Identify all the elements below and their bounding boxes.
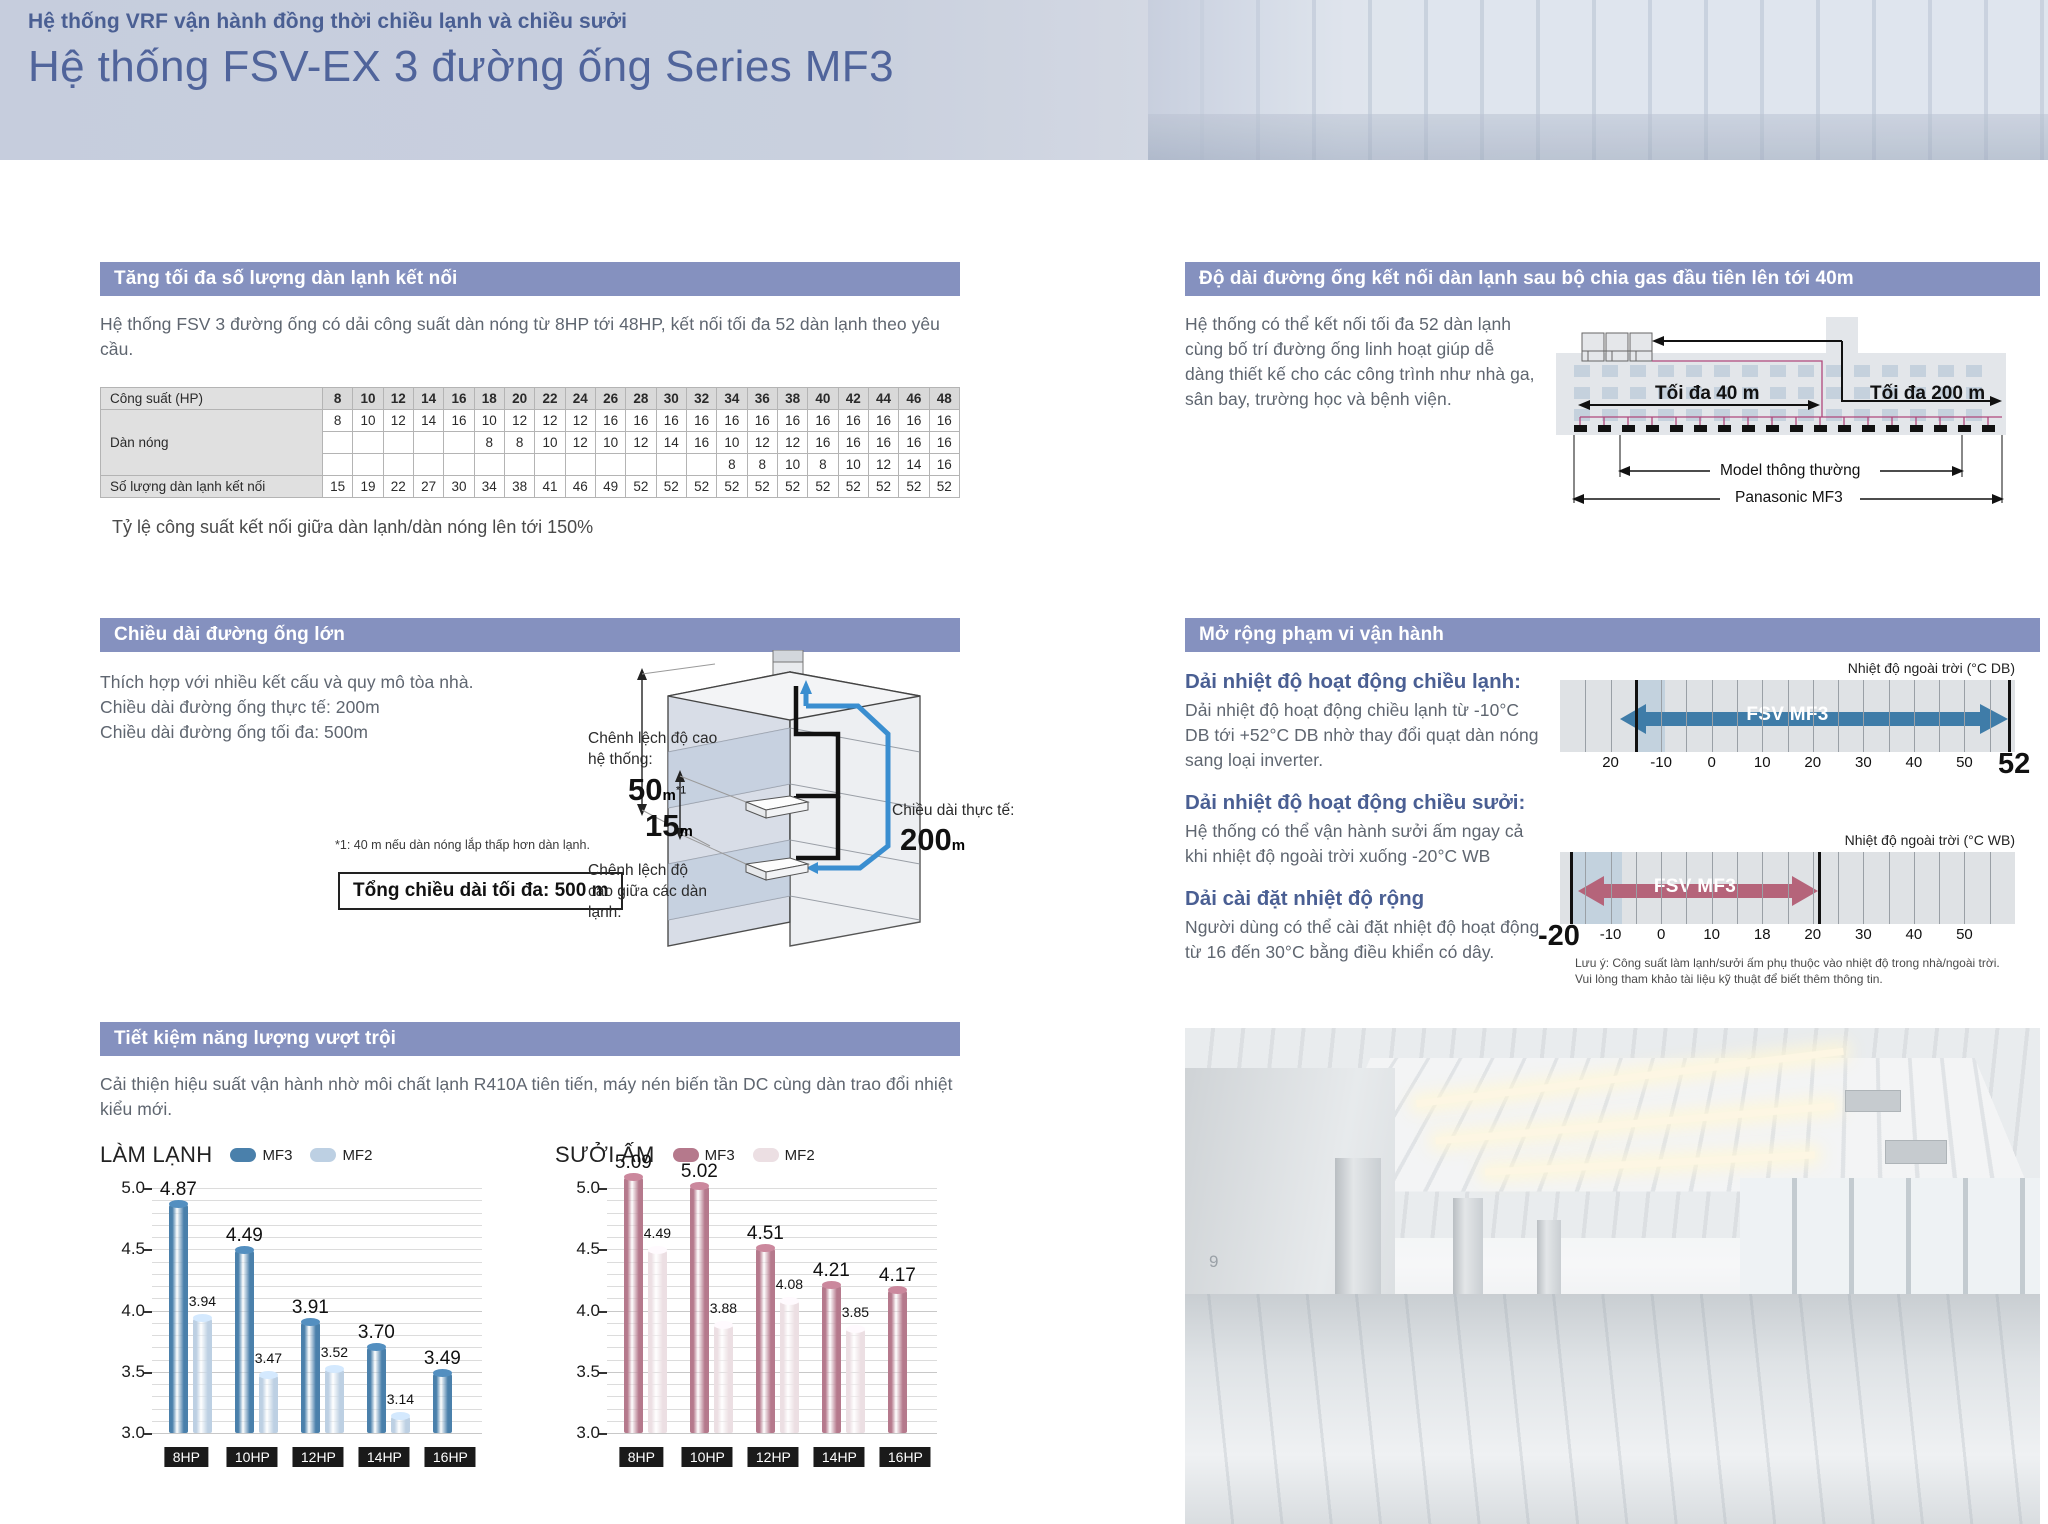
panel-capacity-description: Hệ thống FSV 3 đường ống có dải công suấ… (100, 312, 960, 362)
scale-tick (1686, 680, 1687, 752)
chart-bar-cap (259, 1371, 278, 1379)
chart-bar-cap (169, 1200, 188, 1208)
scale-tick (1889, 680, 1890, 752)
chart-bar-cap (714, 1321, 733, 1329)
scale-tick-label: 30 (1855, 754, 1872, 771)
legend-label: MF3 (262, 1147, 292, 1164)
table-cell: 34 (474, 476, 504, 498)
chart-bar-cap (888, 1286, 907, 1294)
panel-capacity-title: Tăng tối đa số lượng dàn lạnh kết nối (100, 262, 960, 296)
scale-tick (1990, 852, 1991, 924)
chart-bar (169, 1204, 188, 1433)
chart-bar (391, 1416, 410, 1433)
chart-plot-area: 3.03.54.04.55.05.094.498HP5.023.8810HP4.… (607, 1188, 937, 1433)
chart-cooling: LÀM LẠNHMF3MF23.03.54.04.55.04.873.948HP… (100, 1140, 500, 1500)
table-cell: 16 (444, 388, 474, 410)
chart-y-tick-label: 3.5 (121, 1362, 145, 1382)
table-cell: 34 (717, 388, 747, 410)
chart-bar-value-label: 5.09 (615, 1152, 652, 1174)
table-cell: 52 (777, 476, 807, 498)
scale-tick (1788, 680, 1789, 752)
chart-y-tick-mark (144, 1249, 152, 1251)
table-row-outdoor-1: Dàn nóng81012141610121212161616161616161… (101, 410, 960, 432)
scale-tick (1914, 852, 1915, 924)
table-cell (565, 454, 595, 476)
table-cell: 12 (383, 410, 413, 432)
table-cell: 12 (535, 410, 565, 432)
chart-y-tick-mark (599, 1188, 607, 1190)
scale-tick (1712, 852, 1713, 924)
scale-tick (1762, 680, 1763, 752)
table-cell: 10 (838, 454, 868, 476)
ceiling-vent-1 (1845, 1090, 1901, 1112)
scale-tick-label: 40 (1906, 754, 1923, 771)
table-cell: 16 (808, 410, 838, 432)
table-cell: 26 (595, 388, 625, 410)
chart-bar (433, 1373, 452, 1433)
scale-tick (1737, 852, 1738, 924)
chart-x-tick-label: 12HP (748, 1447, 799, 1467)
chart-bar-value-label: 4.08 (776, 1276, 803, 1292)
chart-x-tick-label: 16HP (425, 1447, 476, 1467)
table-cell: 16 (656, 410, 686, 432)
chart-bar-value-label: 3.47 (255, 1350, 282, 1366)
chart-x-tick-label: 16HP (880, 1447, 931, 1467)
chart-bar-cap (367, 1343, 386, 1351)
table-cell (413, 432, 443, 454)
table-cell: 16 (868, 432, 898, 454)
chart-bar-value-label: 3.85 (842, 1304, 869, 1320)
chart-bar (624, 1177, 643, 1433)
heating-scale-ticks: -100101820304050 (1560, 926, 2015, 950)
chart-gridline (152, 1262, 482, 1263)
chart-bar-cap (690, 1182, 709, 1190)
scale-tick-label: 50 (1956, 926, 1973, 943)
setting-range-text: Người dùng có thể cài đặt nhiệt độ hoạt … (1185, 915, 1545, 965)
panel-energy-saving: Tiết kiệm năng lượng vượt trội Cải thiện… (100, 1022, 960, 1122)
chart-y-tick-label: 5.0 (576, 1178, 600, 1198)
scale-tick (1838, 680, 1839, 752)
scale-tick-label: 20 (1602, 754, 1619, 771)
table-cell: 16 (838, 432, 868, 454)
chart-y-tick-mark (144, 1372, 152, 1374)
scale-tick-label: -10 (1600, 926, 1622, 943)
chart-bar-value-label: 3.91 (292, 1297, 329, 1319)
actual-length-value: 200 (900, 822, 952, 857)
cooling-edge-value: 52 (1998, 748, 2030, 781)
chart-bar-cap (624, 1173, 643, 1181)
table-cell: 52 (808, 476, 838, 498)
chart-legend-item: MF2 (310, 1147, 372, 1164)
table-cell (444, 454, 474, 476)
panel-energy-saving-description: Cải thiện hiệu suất vận hành nhờ môi chấ… (100, 1072, 960, 1122)
chart-bar (822, 1285, 841, 1433)
office-interior-photo: 9 (1185, 1028, 2040, 1524)
table-cell (323, 432, 353, 454)
scale-tick (1939, 852, 1940, 924)
table-rowhead: Dàn nóng (101, 410, 323, 476)
scale-tick-label: 20 (1804, 754, 1821, 771)
height-diff-superscript: *1 (676, 785, 686, 797)
table-cell: 16 (929, 432, 959, 454)
table-cell: 16 (686, 432, 716, 454)
scale-tick-label: 20 (1804, 926, 1821, 943)
chart-bar-cap (433, 1369, 452, 1377)
table-row-count: Số lượng dàn lạnh kết nối151922273034384… (101, 476, 960, 498)
table-cell: 16 (717, 410, 747, 432)
chart-gridline (607, 1188, 937, 1189)
table-cell: 16 (899, 432, 929, 454)
capacity-table: Công suất (HP)81012141618202224262830323… (100, 387, 960, 498)
chart-x-tick-label: 10HP (682, 1447, 733, 1467)
table-cell: 10 (717, 432, 747, 454)
scale-tick-label: 30 (1855, 926, 1872, 943)
heating-range-text: Hệ thống có thể vận hành sưởi ấm ngay cả… (1185, 819, 1545, 869)
table-cell (504, 454, 534, 476)
scale-tick (1964, 852, 1965, 924)
table-cell: 22 (383, 476, 413, 498)
chart-bar-value-label: 3.14 (387, 1391, 414, 1407)
table-cell: 12 (747, 432, 777, 454)
chart-y-tick-label: 4.0 (576, 1301, 600, 1321)
table-cell: 12 (626, 432, 656, 454)
table-cell (353, 454, 383, 476)
chart-x-tick-label: 14HP (814, 1447, 865, 1467)
panel-pipe-title: Chiều dài đường ống lớn (100, 618, 960, 652)
capacity-ratio-note: Tỷ lệ công suất kết nối giữa dàn lạnh/dà… (112, 517, 960, 538)
chart-gridline (152, 1274, 482, 1275)
chart-y-tick-label: 3.0 (121, 1423, 145, 1443)
chart-gridline (152, 1225, 482, 1226)
actual-length-unit: m (952, 837, 965, 854)
legend-swatch-icon (230, 1148, 256, 1162)
table-cell: 10 (353, 388, 383, 410)
chart-gridline (607, 1433, 937, 1434)
chart-bar-value-label: 3.88 (710, 1300, 737, 1316)
operating-range-note: Lưu ý: Công suất làm lạnh/sưởi ấm phụ th… (1575, 955, 2015, 987)
scale-tick-label: 18 (1754, 926, 1771, 943)
table-cell: 52 (626, 476, 656, 498)
table-cell: 12 (565, 432, 595, 454)
scale-tick (1964, 680, 1965, 752)
chart-y-tick-label: 3.5 (576, 1362, 600, 1382)
chart-bar-cap (846, 1325, 865, 1333)
table-cell: 30 (444, 476, 474, 498)
table-cell (323, 454, 353, 476)
table-cell: 52 (717, 476, 747, 498)
chart-bar-value-label: 4.17 (879, 1265, 916, 1287)
table-cell: 16 (868, 410, 898, 432)
chart-bar-cap (756, 1244, 775, 1252)
chart-gridline (152, 1200, 482, 1201)
table-cell: 8 (474, 432, 504, 454)
table-cell: 12 (383, 388, 413, 410)
height-diff-value: 50 (628, 772, 662, 807)
page-header: Hệ thống VRF vận hành đồng thời chiều lạ… (0, 0, 2048, 160)
cooling-scale-caption: Nhiệt độ ngoài trời (°C DB) (1560, 660, 2015, 676)
chart-header: LÀM LẠNHMF3MF2 (100, 1140, 500, 1170)
table-cell: 16 (444, 410, 474, 432)
scale-tick (1686, 852, 1687, 924)
table-cell: 12 (565, 410, 595, 432)
table-cell: 52 (929, 476, 959, 498)
scale-tick (1611, 680, 1612, 752)
table-cell: 27 (413, 476, 443, 498)
scale-tick (1762, 852, 1763, 924)
table-cell: 36 (747, 388, 777, 410)
table-cell: 16 (899, 410, 929, 432)
table-cell: 8 (504, 432, 534, 454)
table-cell: 40 (808, 388, 838, 410)
table-cell: 10 (777, 454, 807, 476)
chart-gridline (152, 1433, 482, 1434)
chart-bar-cap (780, 1297, 799, 1305)
chart-y-tick-mark (599, 1249, 607, 1251)
header-subtitle: Hệ thống VRF vận hành đồng thời chiều lạ… (28, 8, 894, 36)
table-cell: 8 (808, 454, 838, 476)
floor (1185, 1294, 2040, 1524)
chart-gridline (152, 1237, 482, 1238)
cooling-temperature-scale: Nhiệt độ ngoài trời (°C DB) FSV MF3 20-1… (1560, 660, 2015, 778)
legend-swatch-icon (753, 1148, 779, 1162)
table-cell: 19 (353, 476, 383, 498)
scale-tick (1863, 852, 1864, 924)
table-cell: 14 (899, 454, 929, 476)
table-cell: 10 (474, 410, 504, 432)
pipe-footnote: *1: 40 m nếu dàn nóng lắp thấp hơn dàn l… (335, 838, 590, 852)
chart-y-tick-mark (599, 1372, 607, 1374)
chart-x-tick-label: 8HP (620, 1447, 663, 1467)
table-cell: 16 (808, 432, 838, 454)
chart-bar (888, 1290, 907, 1433)
table-cell: 22 (535, 388, 565, 410)
scale-tick (1813, 852, 1814, 924)
panel-operating-range-title: Mở rộng phạm vi vận hành (1185, 618, 2040, 652)
chart-bar-value-label: 4.51 (747, 1223, 784, 1245)
chart-gridline (152, 1286, 482, 1287)
chart-bar (648, 1250, 667, 1433)
scale-tick-major (1570, 852, 1573, 924)
chart-bar-cap (325, 1365, 344, 1373)
scale-tick (1788, 852, 1789, 924)
chart-gridline (152, 1213, 482, 1214)
indoor-diff-value: 15 (645, 808, 679, 843)
chart-y-tick-mark (599, 1311, 607, 1313)
chart-bar-value-label: 3.52 (321, 1344, 348, 1360)
height-diff-unit: m (662, 787, 675, 804)
panel-connection-length-description: Hệ thống có thể kết nối tối đa 52 dàn lạ… (1185, 312, 1535, 412)
table-cell: 10 (595, 432, 625, 454)
ceiling-grid (1315, 1058, 2030, 1191)
chart-bar (259, 1375, 278, 1433)
table-cell (383, 432, 413, 454)
chart-bar-cap (822, 1281, 841, 1289)
max-200m-label: Tối đa 200 m (1870, 383, 1985, 405)
table-cell: 52 (686, 476, 716, 498)
chart-legend-item: MF3 (230, 1147, 292, 1164)
table-cell: 14 (656, 432, 686, 454)
chart-x-tick-label: 14HP (359, 1447, 410, 1467)
table-rowhead: Công suất (HP) (101, 388, 323, 410)
chart-x-tick-label: 10HP (227, 1447, 278, 1467)
chart-bar-cap (648, 1246, 667, 1254)
chart-bar-value-label: 3.70 (358, 1322, 395, 1344)
table-cell (413, 454, 443, 476)
table-cell: 12 (777, 432, 807, 454)
cooling-scale-ticks: 20-1001020304050 (1560, 754, 2015, 778)
chart-bar-value-label: 3.49 (424, 1348, 461, 1370)
table-cell: 52 (656, 476, 686, 498)
height-diff-label: Chênh lệch độ cao hệ thống: (588, 728, 723, 770)
scale-tick-label: 10 (1754, 754, 1771, 771)
table-row-capacity: Công suất (HP)81012141618202224262830323… (101, 388, 960, 410)
chart-heating: SƯỞI ẤMMF3MF23.03.54.04.55.05.094.498HP5… (555, 1140, 955, 1500)
chart-gridline (152, 1249, 482, 1250)
chart-y-tick-label: 4.5 (121, 1239, 145, 1259)
scale-tick-label: 0 (1707, 754, 1715, 771)
panel-energy-saving-title: Tiết kiệm năng lượng vượt trội (100, 1022, 960, 1056)
cooling-range-text: Dải nhiệt độ hoạt động chiều lạnh từ -10… (1185, 698, 1545, 773)
chart-bar-value-label: 3.94 (189, 1293, 216, 1309)
chart-y-tick-label: 4.0 (121, 1301, 145, 1321)
chart-y-tick-label: 3.0 (576, 1423, 600, 1443)
scale-tick-major (2008, 680, 2011, 752)
table-cell: 12 (504, 410, 534, 432)
header-title: Hệ thống FSV-EX 3 đường ống Series MF3 (28, 38, 894, 96)
scale-tick (1611, 852, 1612, 924)
panasonic-mf3-label: Panasonic MF3 (1730, 489, 1848, 507)
table-cell: 49 (595, 476, 625, 498)
scale-tick (1863, 680, 1864, 752)
scale-tick (1712, 680, 1713, 752)
table-cell: 52 (838, 476, 868, 498)
conventional-model-label: Model thông thường (1715, 462, 1865, 480)
chart-x-tick-label: 8HP (165, 1447, 208, 1467)
table-cell: 8 (323, 410, 353, 432)
scale-tick (1585, 852, 1586, 924)
table-cell: 16 (929, 454, 959, 476)
scale-tick (1990, 680, 1991, 752)
chart-legend-item: MF2 (753, 1147, 815, 1164)
table-cell (595, 454, 625, 476)
table-cell: 14 (413, 388, 443, 410)
table-cell: 32 (686, 388, 716, 410)
table-cell: 41 (535, 476, 565, 498)
table-cell: 28 (626, 388, 656, 410)
table-cell: 16 (777, 410, 807, 432)
table-cell (474, 454, 504, 476)
table-cell: 38 (777, 388, 807, 410)
table-cell: 30 (656, 388, 686, 410)
chart-bar (690, 1186, 709, 1433)
legend-label: MF2 (785, 1147, 815, 1164)
table-cell: 38 (504, 476, 534, 498)
panel-connection-length-title: Độ dài đường ống kết nối dàn lạnh sau bộ… (1185, 262, 2040, 296)
scale-tick (1661, 852, 1662, 924)
scale-tick-label: 0 (1657, 926, 1665, 943)
actual-length-label: Chiều dài thực tế: (892, 800, 1027, 821)
heating-range-heading: Dải nhiệt độ hoạt động chiều sưởi: (1185, 791, 2040, 815)
table-cell: 52 (899, 476, 929, 498)
table-cell (535, 454, 565, 476)
connection-length-diagram-svg (1550, 305, 2020, 520)
legend-swatch-icon (310, 1148, 336, 1162)
connection-length-diagram: Tối đa 40 m Tối đa 200 m Model thông thư… (1550, 305, 2020, 520)
chart-x-tick-label: 12HP (293, 1447, 344, 1467)
heating-range-arrow-label: FSV MF3 (1560, 876, 1830, 898)
chart-gridline (152, 1188, 482, 1189)
table-rowhead: Số lượng dàn lạnh kết nối (101, 476, 323, 498)
table-cell: 15 (323, 476, 353, 498)
indoor-diff-unit: m (679, 823, 692, 840)
table-cell: 12 (868, 454, 898, 476)
chart-y-tick-mark (144, 1311, 152, 1313)
chart-bar-value-label: 4.87 (160, 1179, 197, 1201)
indoor-diff-value-group: 15m (645, 808, 693, 844)
heating-temperature-scale: Nhiệt độ ngoài trời (°C WB) FSV MF3 -100… (1560, 832, 2015, 950)
scale-tick-label: 40 (1906, 926, 1923, 943)
actual-length-value-group: 200m (900, 822, 965, 858)
chart-bar (367, 1347, 386, 1433)
chart-bar-value-label: 4.49 (226, 1225, 263, 1247)
photo-marker: 9 (1209, 1252, 1218, 1272)
header-text-block: Hệ thống VRF vận hành đồng thời chiều lạ… (28, 8, 894, 96)
table-cell (656, 454, 686, 476)
scale-tick-label: 50 (1956, 754, 1973, 771)
table-cell (444, 432, 474, 454)
table-cell: 48 (929, 388, 959, 410)
table-cell: 8 (747, 454, 777, 476)
heating-scale-bar: FSV MF3 (1560, 852, 2015, 924)
chart-bar (714, 1325, 733, 1433)
table-cell: 16 (595, 410, 625, 432)
scale-tick (1889, 852, 1890, 924)
scale-tick (1661, 680, 1662, 752)
scale-tick (1813, 680, 1814, 752)
cooling-scale-bar: FSV MF3 (1560, 680, 2015, 752)
heating-scale-caption: Nhiệt độ ngoài trời (°C WB) (1560, 832, 2015, 848)
legend-label: MF2 (342, 1147, 372, 1164)
chart-bar-cap (235, 1246, 254, 1254)
table-cell: 14 (413, 410, 443, 432)
scale-tick (1636, 852, 1637, 924)
scale-tick (1914, 680, 1915, 752)
chart-bar (235, 1250, 254, 1433)
scale-tick-label: 10 (1703, 926, 1720, 943)
chart-y-tick-mark (144, 1188, 152, 1190)
table-cell: 20 (504, 388, 534, 410)
chart-y-tick-label: 5.0 (121, 1178, 145, 1198)
table-cell: 52 (868, 476, 898, 498)
chart-bar-cap (391, 1412, 410, 1420)
scale-tick-major (1818, 852, 1821, 924)
chart-bar (325, 1369, 344, 1433)
table-cell: 10 (535, 432, 565, 454)
scale-tick-label: -10 (1650, 754, 1672, 771)
indoor-diff-label: Chênh lệch độ cao giữa các dàn lạnh: (588, 860, 708, 923)
scale-tick (1838, 852, 1839, 924)
table-cell: 44 (868, 388, 898, 410)
table-cell: 24 (565, 388, 595, 410)
table-cell: 8 (717, 454, 747, 476)
table-cell: 16 (929, 410, 959, 432)
max-40m-label: Tối đa 40 m (1655, 383, 1760, 405)
chart-bar (301, 1322, 320, 1433)
table-cell: 52 (747, 476, 777, 498)
table-cell (626, 454, 656, 476)
table-cell: 8 (323, 388, 353, 410)
chart-bar-value-label: 5.02 (681, 1161, 718, 1183)
